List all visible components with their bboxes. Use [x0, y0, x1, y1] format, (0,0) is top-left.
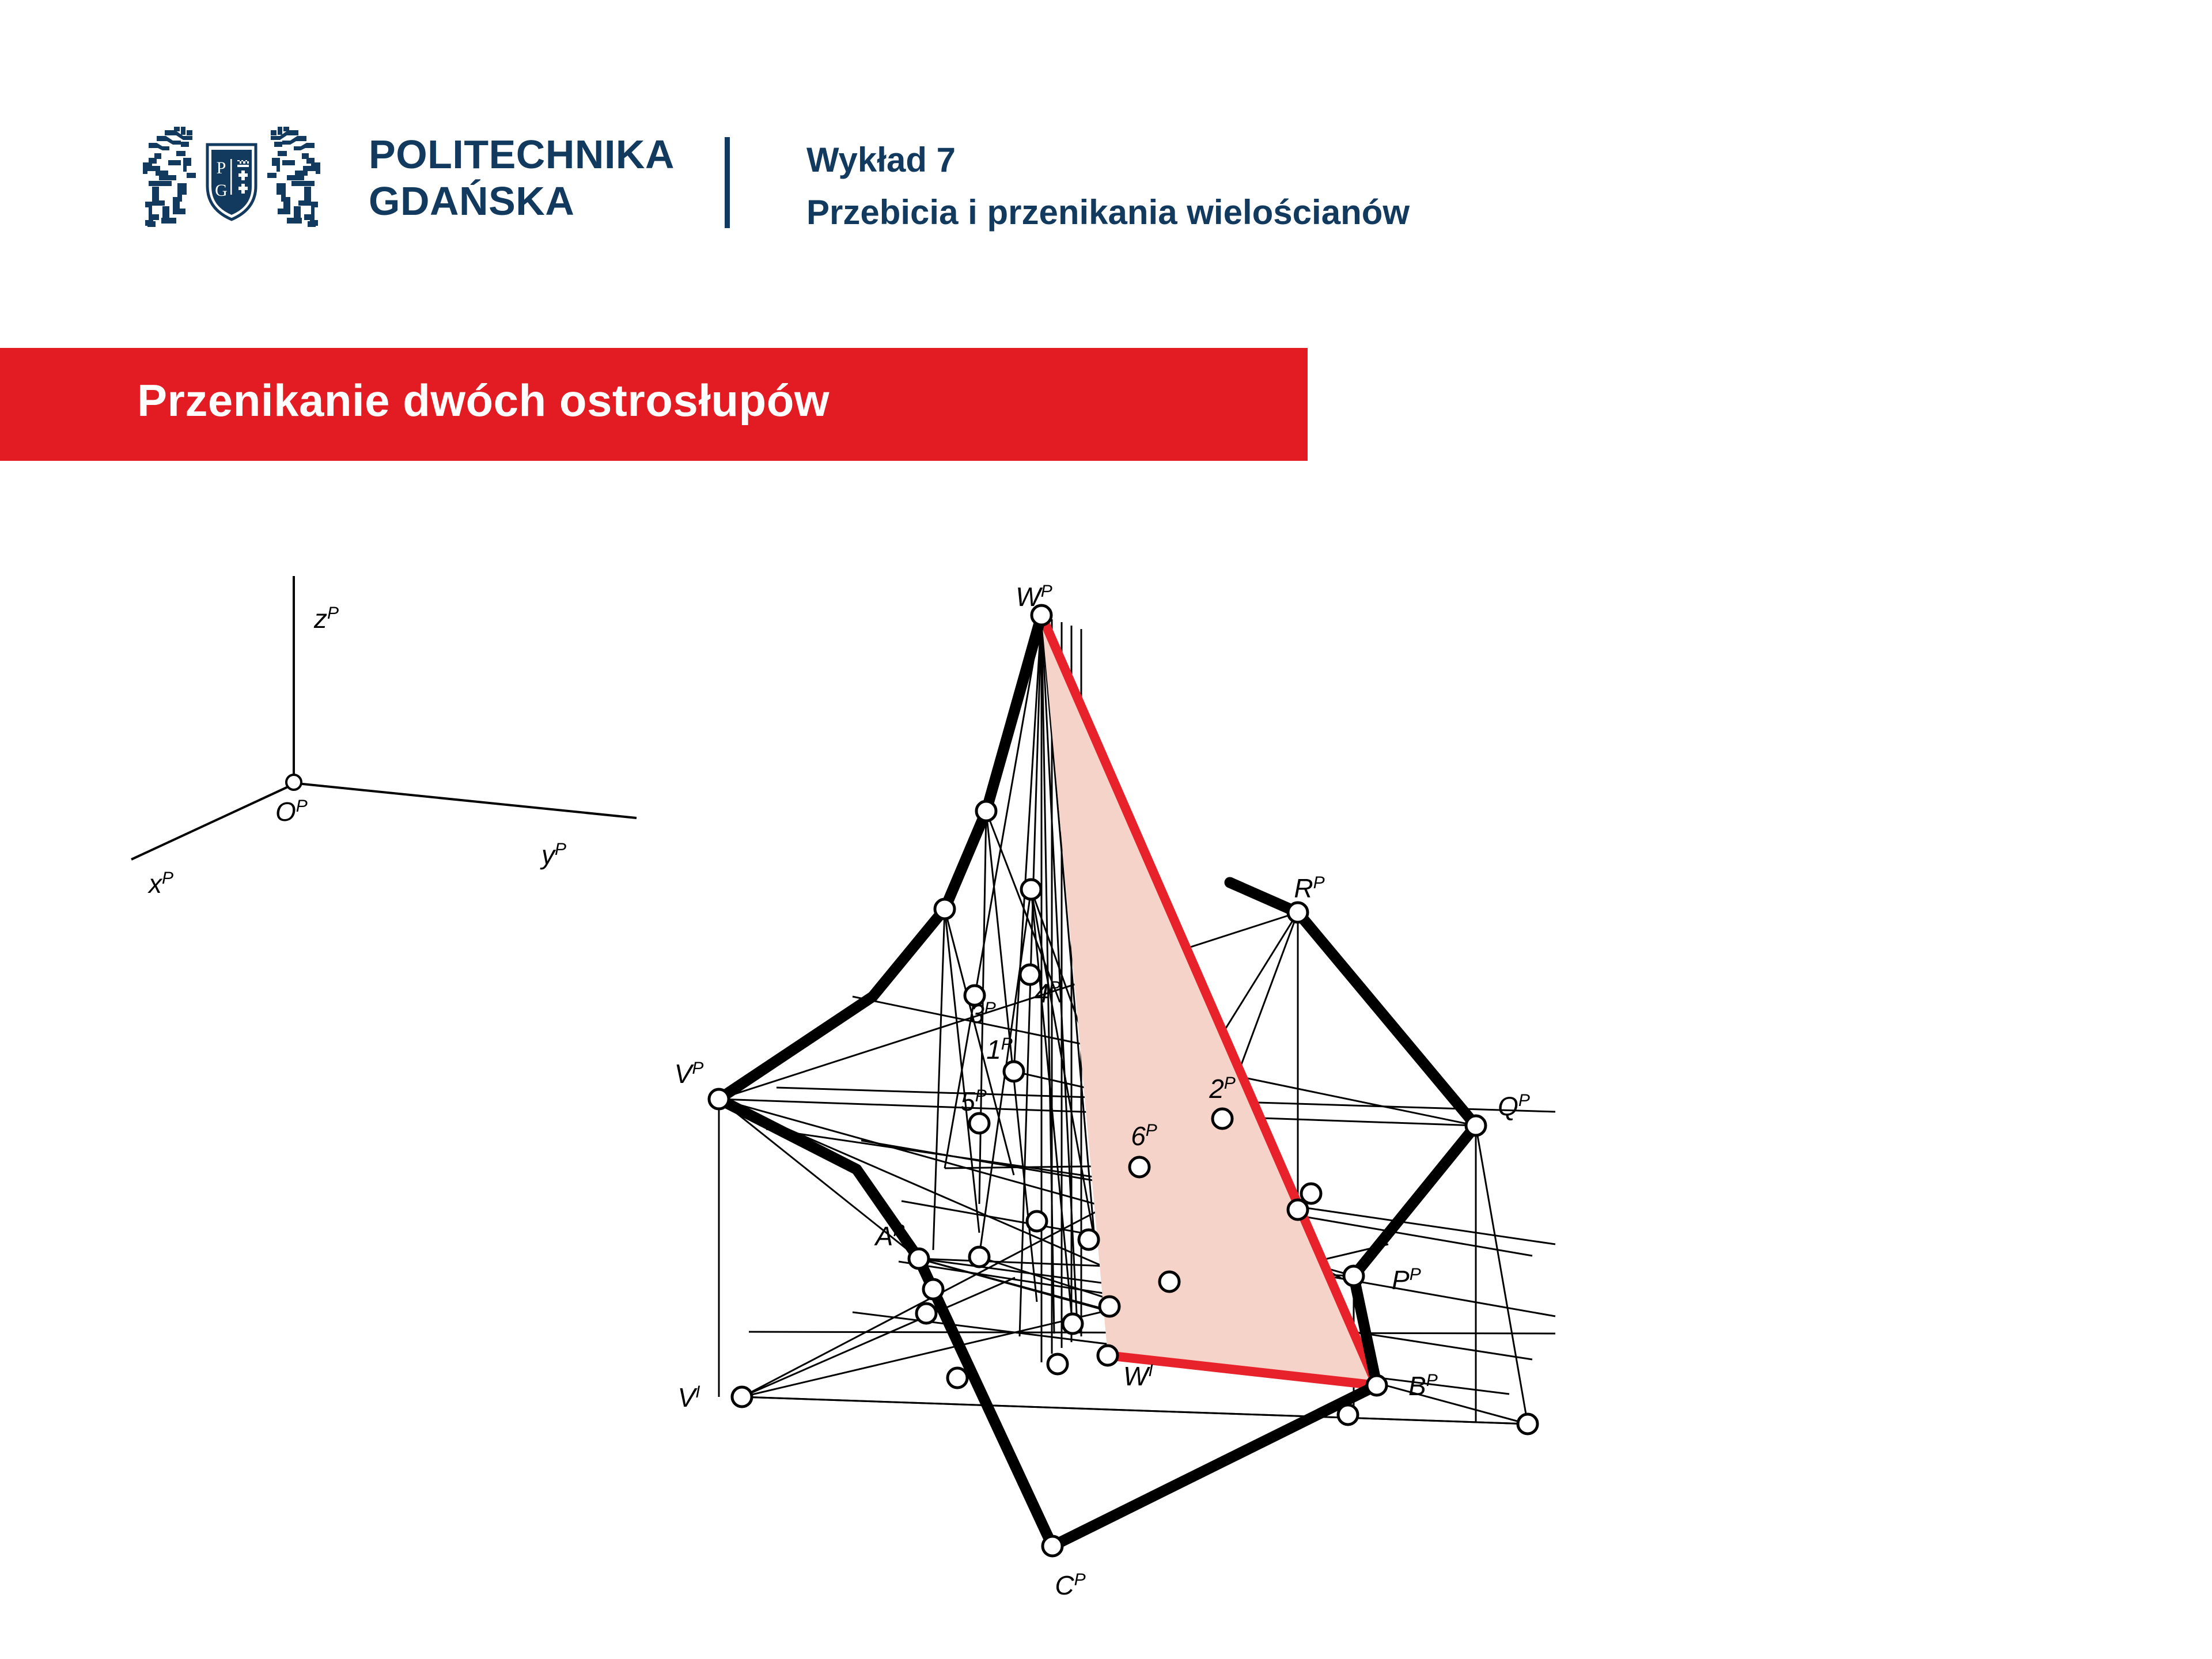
pg-logo: P G [131, 126, 332, 238]
vertex-V-I [732, 1387, 752, 1407]
aux-point [969, 1247, 989, 1267]
slide-header: P G POLITECHNIKA GDAŃSKA Wykład 7 Przebi… [0, 0, 2212, 294]
label-C-P: CP [1055, 1570, 1085, 1600]
label-axis-z: zP [313, 604, 339, 634]
lecture-subject: Przebicia i przenikania wielościanów [806, 186, 1410, 238]
aux-point [976, 801, 996, 821]
aux-point [935, 899, 955, 919]
label-V-P: VP [675, 1059, 704, 1089]
aux-point [1160, 1272, 1179, 1291]
axis-y [297, 783, 637, 818]
geometry-figure: WP RP QP PP BP CP VP VI AP WI 1P 2P 3P 4… [0, 495, 2212, 1659]
label-4-P: 4P [1034, 978, 1060, 1008]
aux-point [1301, 1184, 1321, 1203]
aux-point [1338, 1405, 1358, 1425]
label-axis-y: yP [540, 840, 566, 870]
geometry-svg: WP RP QP PP BP CP VP VI AP WI 1P 2P 3P 4… [0, 495, 2212, 1659]
label-W-I: WI [1123, 1361, 1153, 1391]
aux-point [1079, 1230, 1099, 1249]
vertex-Q-P [1466, 1116, 1486, 1135]
label-5-P: 5P [960, 1086, 987, 1116]
label-3-P: 3P [969, 999, 996, 1029]
aux-point [1048, 1354, 1067, 1374]
point-1-P [1004, 1062, 1024, 1081]
lecture-number: Wykład 7 [806, 134, 1410, 186]
label-P-P: PP [1392, 1265, 1421, 1295]
pg-coat-of-arms-logo-icon: P G [131, 126, 332, 238]
vertex-B-P [1367, 1376, 1387, 1395]
label-V-I: VI [677, 1382, 700, 1412]
aux-point [1021, 880, 1041, 899]
aux-point [948, 1368, 967, 1388]
aux-point [1063, 1314, 1082, 1334]
label-1-P: 1P [986, 1035, 1013, 1065]
svg-text:G: G [215, 181, 228, 200]
header-titles: Wykład 7 Przebicia i przenikania wielośc… [806, 134, 1410, 238]
svg-text:P: P [217, 158, 226, 177]
axis-system [131, 576, 637, 859]
header-divider [725, 137, 730, 228]
label-R-P: RP [1294, 873, 1324, 903]
label-Q-P: QP [1498, 1091, 1530, 1121]
axis-labels: zP yP xP OP [147, 604, 566, 899]
aux-point [1518, 1414, 1537, 1434]
vertex-W-I [1098, 1346, 1118, 1365]
base-outline-left [719, 997, 1052, 1546]
point-2-P [1213, 1109, 1232, 1128]
aux-point [1027, 1211, 1047, 1231]
aux-point [1100, 1297, 1119, 1316]
vertex-V-P [709, 1089, 729, 1109]
point-6-P [1130, 1157, 1149, 1177]
aux-point [923, 1279, 943, 1299]
section-banner: Przenikanie dwóch ostrosłupów [0, 348, 1308, 461]
vertex-R-P [1288, 903, 1308, 922]
brand-line-1: POLITECHNIKA [369, 131, 675, 178]
label-axis-x: xP [147, 869, 173, 899]
aux-point [916, 1304, 936, 1323]
vertex-A-P [909, 1249, 929, 1268]
w-pyramid-left-edge [873, 615, 1041, 997]
brand-line-2: GDAŃSKA [369, 178, 675, 225]
axis-x [131, 786, 290, 859]
vertex-C-P [1043, 1536, 1062, 1556]
label-B-P: BP [1408, 1371, 1438, 1401]
label-axis-origin: OP [275, 797, 308, 827]
label-A-P: AP [874, 1221, 905, 1251]
section-title: Przenikanie dwóch ostrosłupów [137, 374, 829, 427]
aux-point [1288, 1200, 1308, 1219]
axis-origin-marker [286, 775, 301, 790]
brand-name: POLITECHNIKA GDAŃSKA [369, 131, 675, 225]
vertex-P-P [1344, 1266, 1363, 1286]
point-5-P [969, 1113, 989, 1133]
